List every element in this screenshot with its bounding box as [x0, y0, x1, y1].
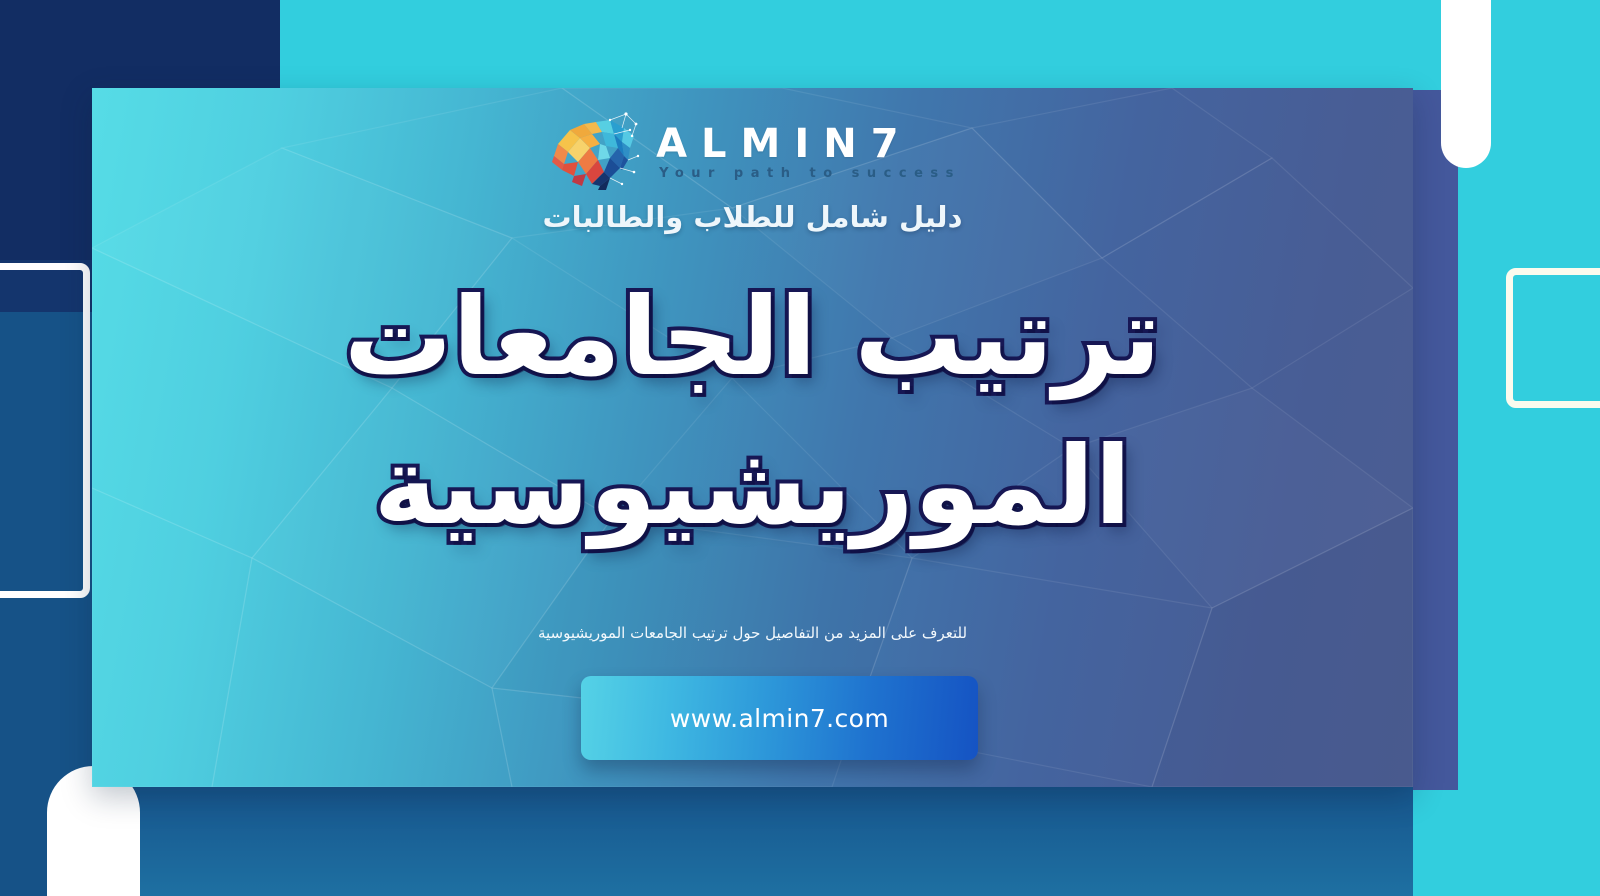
decorative-pill-top-right: [1441, 0, 1491, 168]
poster-title-line-2: الموريشيوسية: [92, 412, 1413, 561]
brand-text-block: ALMIN7 Your path to success: [656, 118, 961, 180]
website-url-button[interactable]: www.almin7.com: [581, 676, 978, 760]
background-slate-right-block: [1413, 90, 1458, 790]
poster-title-line-1: ترتيب الجامعات: [92, 263, 1413, 412]
poster-description: للتعرف على المزيد من التفاصيل حول ترتيب …: [92, 624, 1413, 642]
polygonal-brain-icon: [544, 106, 640, 192]
brand-tagline: Your path to success: [656, 167, 961, 180]
poster-subtitle: دليل شامل للطلاب والطالبات: [92, 200, 1413, 234]
brand-logo-lockup: ALMIN7 Your path to success: [92, 106, 1413, 192]
poster-card: ALMIN7 Your path to success دليل شامل لل…: [92, 88, 1413, 787]
poster-title: ترتيب الجامعات الموريشيوسية: [92, 263, 1413, 561]
decorative-corner-bracket-left: [0, 263, 90, 598]
poster-canvas: ALMIN7 Your path to success دليل شامل لل…: [0, 0, 1600, 896]
background-blue-bottom-band: [140, 787, 1413, 896]
background-navy-block: [0, 0, 92, 268]
brand-name: ALMIN7: [656, 124, 912, 164]
decorative-corner-bracket-right: [1506, 268, 1600, 408]
